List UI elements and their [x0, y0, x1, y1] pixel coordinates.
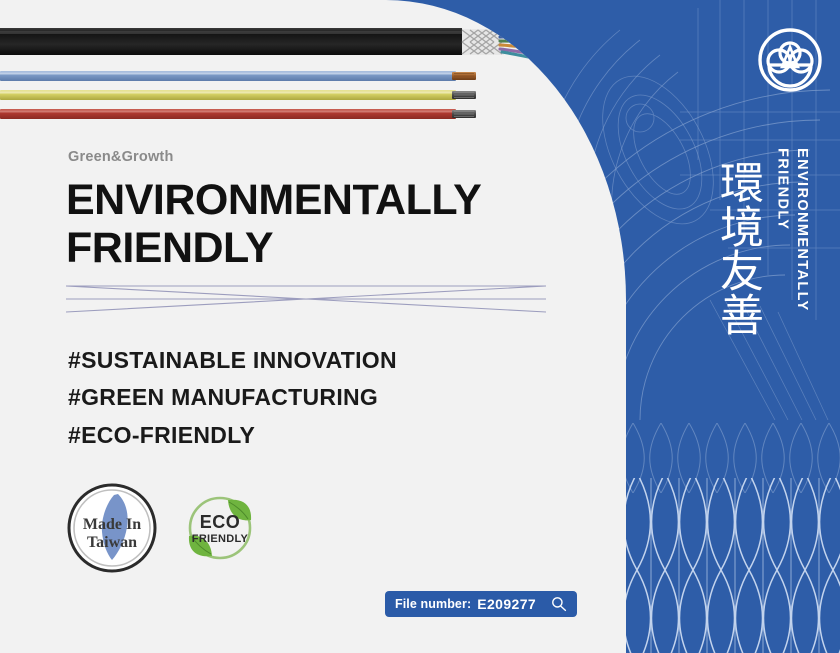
hashtag-item: #GREEN MANUFACTURING: [68, 379, 397, 416]
file-number-label: File number:: [395, 597, 471, 611]
page-title: ENVIRONMENTALLY FRIENDLY: [66, 176, 481, 272]
eco-line2: FRIENDLY: [192, 533, 249, 545]
hashtag-item: #SUSTAINABLE INNOVATION: [68, 342, 397, 379]
eco-line1: ECO: [200, 512, 241, 532]
cable-bundle-image: [0, 18, 560, 126]
file-number-bar[interactable]: File number: E209277: [385, 591, 577, 617]
eco-friendly-leaf-icon: ECO FRIENDLY: [182, 490, 258, 566]
company-circle-logo-icon: [757, 27, 823, 93]
chinese-title: 環境友善: [700, 160, 762, 336]
poster-canvas: 環境友善 ENVIRONMENTALLY FRIENDLY: [0, 0, 840, 653]
made-in-taiwan-icon: Made In Taiwan: [66, 482, 158, 574]
english-vertical-title: ENVIRONMENTALLY FRIENDLY: [772, 148, 811, 312]
braided-weave-pattern-icon: [615, 478, 840, 653]
content-card: Green&Growth ENVIRONMENTALLY FRIENDLY #S…: [0, 0, 626, 653]
file-number-value: E209277: [477, 596, 536, 612]
hashtag-item: #ECO-FRIENDLY: [68, 417, 397, 454]
eyebrow-label: Green&Growth: [68, 149, 174, 165]
magnifier-icon[interactable]: [551, 596, 567, 612]
badge-line2: Taiwan: [87, 534, 137, 551]
crossing-lines-divider-icon: [66, 278, 546, 320]
badge-group: Made In Taiwan ECO FRIENDLY: [66, 482, 258, 574]
hashtag-list: #SUSTAINABLE INNOVATION #GREEN MANUFACTU…: [68, 342, 397, 454]
badge-line1: Made In: [83, 516, 141, 533]
